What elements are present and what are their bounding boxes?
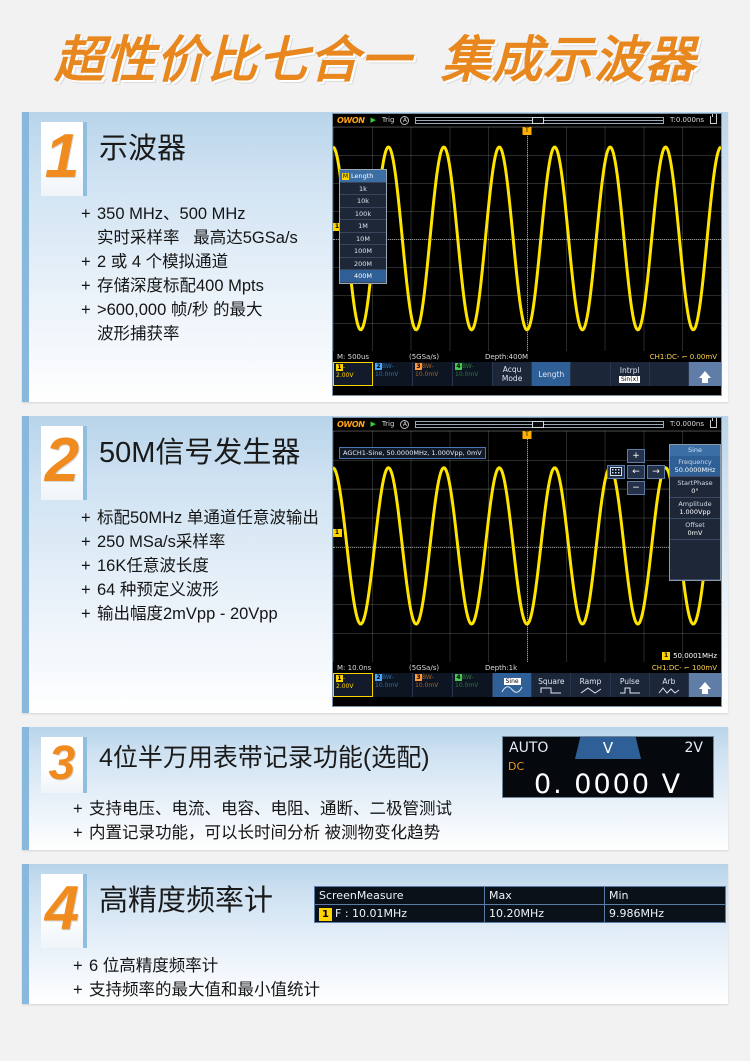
section-panel-2: 2 50M信号发生器 +标配50MHz 单通道任意波输出 +250 MSa/s采… [22, 416, 728, 713]
ramp-label: Ramp [580, 677, 602, 686]
scope1-menu-bar: 1- 2.00V 2BW- 10.0mV 3BW- 10.0mV 4BW- 10… [333, 362, 721, 386]
bullet-plus: + [81, 202, 97, 226]
section-3-bullets: +支持电压、电流、电容、电阻、通断、二极管测试 +内置记录功能，可以长时间分析 … [73, 797, 716, 845]
pulse-label: Pulse [620, 677, 640, 686]
horizontal-position-slider[interactable] [415, 117, 664, 124]
param-frequency-label: Frequency [670, 458, 720, 466]
channel-1-button[interactable]: 1- 2.00V [333, 362, 373, 386]
multimeter-topbar: AUTO V 2V [503, 737, 713, 759]
length-option-100k[interactable]: 100k [340, 208, 386, 221]
waveform-arb-button[interactable]: Arb [650, 673, 689, 697]
arb-wave-icon [658, 687, 680, 694]
bullet-text: 6 位高精度频率计 [89, 954, 218, 978]
channel-2-button[interactable]: 2BW- 10.0mV [373, 673, 413, 697]
param-startphase-label: StartPhase [670, 479, 720, 487]
bullet-text: 2 或 4 个模拟通道 [97, 250, 228, 274]
multimeter-mode[interactable]: AUTO [503, 737, 575, 759]
horizontal-position-slider[interactable] [415, 421, 664, 428]
play-icon[interactable]: ▶ [371, 116, 376, 124]
bullet-plus: + [81, 298, 97, 322]
bullet-text: 标配50MHz 单通道任意波输出 [97, 506, 319, 530]
scope2-menu-bar: 1- 2.00V 2BW- 10.0mV 3BW- 10.0mV 4BW- 10… [333, 673, 721, 697]
trigger-level-value: 0.00mV [690, 353, 717, 361]
slider-knob[interactable] [532, 421, 544, 428]
trigger-source-value: CH1:DC- [650, 353, 680, 361]
lock-icon[interactable] [710, 116, 717, 124]
channel-2-bw: BW- [382, 674, 394, 681]
interpolation-label: Intrpl [620, 366, 640, 375]
scope2-waveform-grid[interactable]: T 1 AGCH1-Sine, 50.0000MHz, 1.000Vpp, 0m… [333, 431, 721, 662]
column-header-max: Max [485, 887, 605, 905]
cell-min: 9.986MHz [605, 905, 725, 922]
channel-1-number: 1 [336, 675, 343, 682]
waveform-square-button[interactable]: Square [532, 673, 571, 697]
length-option-400m[interactable]: 400M [340, 270, 386, 283]
timebase-value: M: 500us [337, 353, 409, 361]
bullet-plus: + [73, 954, 89, 978]
bullet-item: +支持电压、电流、电容、电阻、通断、二极管测试 [73, 797, 716, 821]
sine-wave-icon [501, 686, 523, 693]
channel-1-bw: - [343, 675, 345, 682]
channel-badge: 1 [319, 908, 332, 921]
channel-3-button[interactable]: 3BW- 10.0mV [413, 362, 453, 386]
scope1-topbar: OWON ▶ Trig A T:0.000ns [333, 114, 721, 127]
home-button[interactable] [689, 673, 721, 697]
length-option-200m[interactable]: 200M [340, 258, 386, 271]
bullet-plus: + [81, 250, 97, 274]
param-startphase-value: 0° [670, 487, 720, 495]
bullet-text: 250 MSa/s采样率 [97, 530, 225, 554]
bullet-text: >600,000 帧/秒 的最大 [97, 298, 263, 322]
channel-2-scale: 10.0mV [375, 682, 398, 689]
scope1-infobar: M: 500us (5GSa/s) Depth:400M CH1:DC- ⌐ 0… [333, 351, 721, 362]
channel-1-number: 1 [336, 364, 343, 371]
arb-label: Arb [662, 677, 675, 686]
cell-measure: 1F : 10.01MHz [315, 905, 485, 922]
sine-label: Sine [504, 678, 521, 685]
bullet-plus: + [81, 506, 97, 530]
bullet-plus: + [81, 274, 97, 298]
interpolation-value: Sin(x) [619, 376, 641, 383]
increase-button[interactable]: + [627, 449, 645, 463]
channel-3-scale: 10.0mV [415, 371, 438, 378]
channel-2-scale: 10.0mV [375, 371, 398, 378]
length-option-10m[interactable]: 10M [340, 233, 386, 246]
channel-2-number: 2 [375, 363, 382, 370]
bullet-plus: + [73, 978, 89, 1002]
trig-label: Trig [382, 116, 395, 124]
length-button-label: Length [538, 370, 564, 379]
channel-3-bw: BW- [422, 363, 434, 370]
bullet-item: +6 位高精度频率计 [73, 954, 716, 978]
timebase-value: M: 10.0ns [337, 664, 409, 672]
param-offset[interactable]: Offset 0mV [670, 519, 720, 540]
channel-4-scale: 10.0mV [455, 682, 478, 689]
trigger-source-value: CH1:DC- [652, 664, 682, 672]
acqu-mode-button[interactable]: Acqu Mode [493, 362, 532, 386]
column-header-min: Min [605, 887, 725, 905]
bullet-plus: + [81, 530, 97, 554]
scope1-waveform-grid[interactable]: T 1 MLength 1k 10k 100k 1M 10M 100M 200M [333, 127, 721, 351]
bullet-text: 波形捕获率 [97, 322, 180, 346]
length-option-100m[interactable]: 100M [340, 245, 386, 258]
section-panel-4: 4 高精度频率计 +6 位高精度频率计 +支持频率的最大值和最小值统计 Scre… [22, 864, 728, 1004]
product-page: 超性价比七合一 集成示波器 1 示波器 +350 MHz、500 MHz +实时… [0, 0, 750, 1061]
param-offset-label: Offset [670, 521, 720, 529]
bullet-plus: + [81, 554, 97, 578]
multimeter-value: 0. 0000 V [503, 769, 713, 798]
channel-3-number: 3 [415, 674, 422, 681]
channel-2-button[interactable]: 2BW- 10.0mV [373, 362, 413, 386]
section-title-2: 50M信号发生器 [99, 426, 300, 480]
bullet-text: 64 种预定义波形 [97, 578, 219, 602]
channel-1-button[interactable]: 1- 2.00V [333, 673, 373, 697]
section-number-2: 2 [41, 426, 87, 500]
channel-4-button[interactable]: 4BW- 10.0mV [453, 673, 493, 697]
owon-logo: OWON [337, 116, 365, 125]
length-option-1m[interactable]: 1M [340, 220, 386, 233]
param-amplitude-label: Amplitude [670, 500, 720, 508]
param-frequency[interactable]: Frequency 50.0000MHz [670, 456, 720, 477]
param-amplitude[interactable]: Amplitude 1.000Vpp [670, 498, 720, 519]
trigger-mode-icon[interactable]: A [400, 116, 409, 125]
section-number-4: 4 [41, 874, 87, 948]
waveform-sine-button[interactable]: Sine [493, 673, 532, 697]
param-frequency-value: 50.0000MHz [670, 466, 720, 474]
waveform-ramp-button[interactable]: Ramp [571, 673, 610, 697]
channel-4-number: 4 [455, 363, 462, 370]
bullet-plus: + [81, 602, 97, 626]
frequency-meter-table: ScreenMeasure Max Min 1F : 10.01MHz 10.2… [314, 886, 726, 923]
bullet-plus: + [81, 578, 97, 602]
channel-4-scale: 10.0mV [455, 371, 478, 378]
freq-badge-value: 50.0001MHz [673, 652, 717, 660]
channel-4-number: 4 [455, 674, 462, 681]
param-amplitude-value: 1.000Vpp [670, 508, 720, 516]
depth-value: Depth:400M [485, 353, 528, 361]
scope2-topbar: OWON ▶ Trig A T:0.000ns [333, 418, 721, 431]
square-wave-icon [540, 687, 562, 694]
section-title-4: 高精度频率计 [99, 874, 273, 928]
samplerate-value: (5GSa/s) [409, 664, 485, 672]
keypad-icon[interactable] [607, 465, 625, 479]
bullet-plus: + [73, 797, 89, 821]
channel-4-bw: BW- [462, 363, 474, 370]
length-menu-header: MLength [340, 170, 386, 183]
play-icon[interactable]: ▶ [371, 420, 376, 428]
channel-4-button[interactable]: 4BW- 10.0mV [453, 362, 493, 386]
channel-2-bw: BW- [382, 363, 394, 370]
measured-frequency-badge: 1 50.0001MHz [662, 652, 717, 660]
channel-1-bw: - [343, 364, 345, 371]
section-title-3: 4位半万用表带记录功能(选配) [99, 737, 430, 779]
square-label: Square [538, 677, 564, 686]
owon-logo: OWON [337, 420, 365, 429]
bullet-text: 支持频率的最大值和最小值统计 [89, 978, 320, 1002]
multimeter-display[interactable]: AUTO V 2V DC 0. 0000 V [502, 736, 714, 798]
interpolation-button[interactable]: Intrpl Sin(x) [611, 362, 650, 386]
channel-3-number: 3 [415, 363, 422, 370]
param-empty [670, 540, 720, 580]
table-header-row: ScreenMeasure Max Min [315, 887, 725, 905]
channel-3-button[interactable]: 3BW- 10.0mV [413, 673, 453, 697]
length-button[interactable]: Length [532, 362, 571, 386]
param-offset-value: 0mV [670, 529, 720, 537]
length-option-1k[interactable]: 1k [340, 183, 386, 196]
scope1-waveform [333, 127, 721, 350]
waveform-pulse-button[interactable]: Pulse [611, 673, 650, 697]
channel-2-number: 2 [375, 674, 382, 681]
channel-1-scale: 2.00V [336, 372, 353, 379]
column-header-screenmeasure: ScreenMeasure [315, 887, 485, 905]
bullet-text: 存储深度标配400 Mpts [97, 274, 264, 298]
section-number-3: 3 [41, 737, 87, 793]
section-title-1: 示波器 [99, 122, 186, 176]
section-4-bullets: +6 位高精度频率计 +支持频率的最大值和最小值统计 [73, 954, 716, 1002]
trigger-level-value: 100mV [692, 664, 717, 672]
bullet-text: 16K任意波长度 [97, 554, 209, 578]
page-title: 超性价比七合一 集成示波器 [54, 20, 696, 92]
acqu-mode-label: Acqu Mode [493, 365, 531, 383]
time-reference: T:0.000ns [670, 116, 704, 124]
bullet-item: +内置记录功能，可以长时间分析 被测物变化趋势 [73, 821, 716, 845]
page-header: 超性价比七合一 集成示波器 [0, 0, 750, 112]
scope2-infobar: M: 10.0ns (5GSa/s) Depth:1k CH1:DC- ⌐ 10… [333, 662, 721, 673]
bullet-text: 350 MHz、500 MHz [97, 202, 246, 226]
bullet-text: 实时采样率 最高达5GSa/s [97, 226, 298, 250]
oscilloscope-screen-1[interactable]: OWON ▶ Trig A T:0.000ns T 1 MLe [332, 113, 722, 396]
slider-knob[interactable] [532, 117, 544, 124]
home-icon [699, 371, 711, 378]
right-arrow-button[interactable]: → [647, 465, 665, 479]
cell-measure-text: F : 10.01MHz [335, 907, 407, 920]
depth-value: Depth:1k [485, 664, 517, 672]
section-number-1: 1 [41, 122, 87, 196]
length-option-10k[interactable]: 10k [340, 195, 386, 208]
channel-1-scale: 2.00V [336, 683, 353, 690]
menu-badge: M [342, 173, 349, 180]
bullet-text: 输出幅度2mVpp - 20Vpp [97, 602, 278, 626]
home-icon [699, 682, 711, 689]
length-dropdown-menu[interactable]: MLength 1k 10k 100k 1M 10M 100M 200M 400… [339, 169, 387, 284]
time-reference: T:0.000ns [670, 420, 704, 428]
multimeter-range[interactable]: 2V [641, 737, 713, 759]
bullet-plus: + [73, 821, 89, 845]
section-panel-3: 3 4位半万用表带记录功能(选配) +支持电压、电流、电容、电阻、通断、二极管测… [22, 727, 728, 850]
oscilloscope-screen-2[interactable]: OWON ▶ Trig A T:0.000ns T 1 AGCH1-Sine, … [332, 417, 722, 707]
lock-icon[interactable] [710, 420, 717, 428]
channel-4-bw: BW- [462, 674, 474, 681]
freq-badge-channel: 1 [662, 652, 670, 660]
awg-parameter-panel[interactable]: Sine Frequency 50.0000MHz StartPhase 0° … [669, 444, 721, 581]
length-menu-title: Length [351, 172, 373, 180]
awg-nav-pad[interactable]: + ← → − [607, 449, 665, 497]
empty-menu-button[interactable] [571, 362, 610, 386]
empty-menu-button-2[interactable] [650, 362, 689, 386]
trig-label: Trig [382, 420, 395, 428]
pulse-wave-icon [619, 687, 641, 694]
ramp-wave-icon [580, 687, 602, 694]
awg-status-text: AGCH1-Sine, 50.0000MHz, 1.000Vpp, 0mV [339, 447, 486, 459]
channel-3-scale: 10.0mV [415, 682, 438, 689]
bullet-item: +支持频率的最大值和最小值统计 [73, 978, 716, 1002]
bullet-text: 内置记录功能，可以长时间分析 被测物变化趋势 [89, 821, 440, 845]
multimeter-unit[interactable]: V [575, 737, 641, 759]
cell-max: 10.20MHz [485, 905, 605, 922]
left-arrow-button[interactable]: ← [627, 465, 645, 479]
section-panel-1: 1 示波器 +350 MHz、500 MHz +实时采样率 最高达5GSa/s … [22, 112, 728, 402]
param-panel-header: Sine [670, 445, 720, 456]
table-row: 1F : 10.01MHz 10.20MHz 9.986MHz [315, 905, 725, 922]
bullet-text: 支持电压、电流、电容、电阻、通断、二极管测试 [89, 797, 452, 821]
samplerate-value: (5GSa/s) [409, 353, 485, 361]
param-startphase[interactable]: StartPhase 0° [670, 477, 720, 498]
channel-3-bw: BW- [422, 674, 434, 681]
home-button[interactable] [689, 362, 721, 386]
decrease-button[interactable]: − [627, 481, 645, 495]
trigger-mode-icon[interactable]: A [400, 420, 409, 429]
